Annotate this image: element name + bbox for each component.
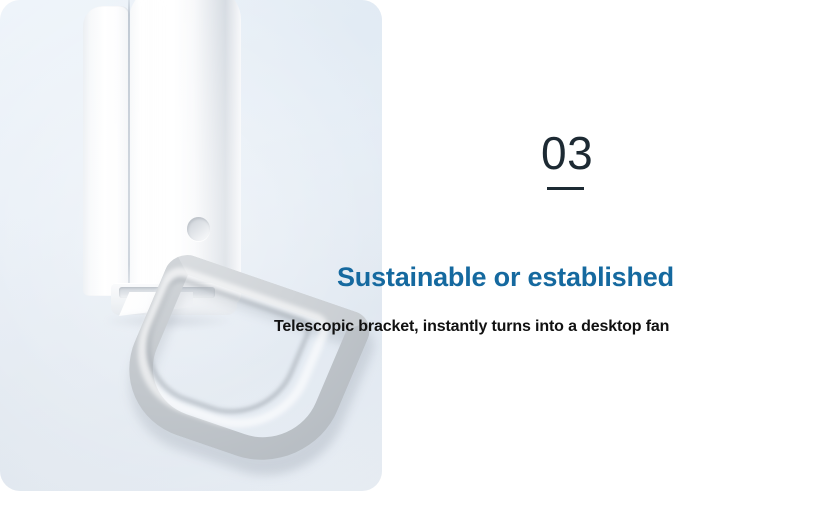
subline: Telescopic bracket, instantly turns into… [274,318,669,336]
product-photo-panel [0,0,382,491]
fan-body-highlight [139,0,165,294]
fan-body-seam [128,0,130,302]
fan-body-left-column [83,6,130,296]
product-feature-slide: 03 Sustainable or established Telescopic… [0,0,817,508]
step-number-rule [547,187,584,190]
step-number: 03 [541,130,593,176]
fan-body-port [187,217,210,241]
headline: Sustainable or established [337,262,674,293]
fan-body [83,0,241,296]
telescopic-bracket [113,262,331,447]
